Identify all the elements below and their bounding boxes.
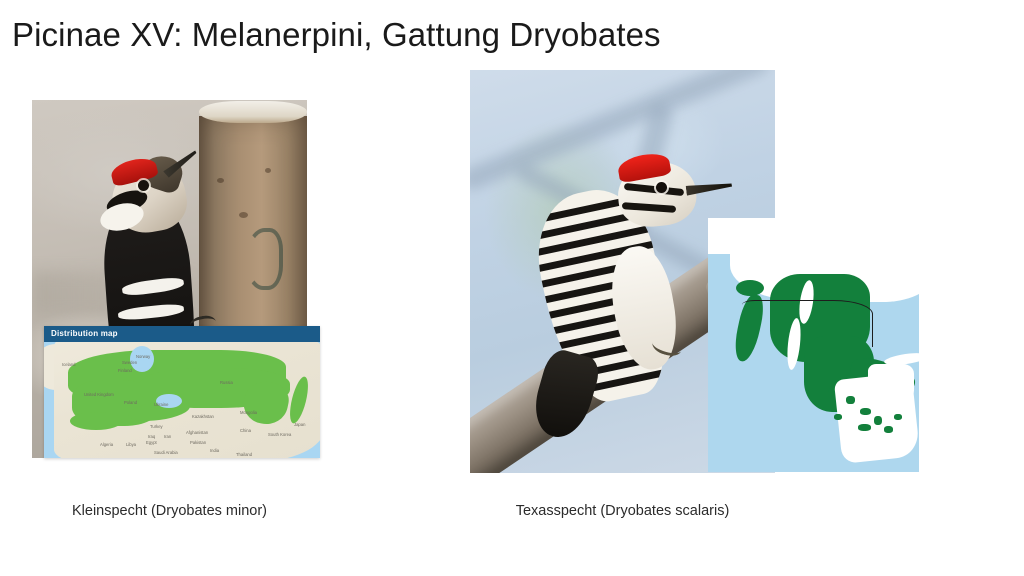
map-country-label: Iceland (62, 362, 76, 367)
map-country-label: Iraq (148, 434, 155, 439)
slide-canvas: Picinae XV: Melanerpini, Gattung Dryobat… (0, 0, 1024, 576)
distribution-map-header: Distribution map (44, 326, 320, 342)
range-patch (834, 414, 842, 420)
map-country-label: Finland (118, 368, 132, 373)
eurasia-distribution-map: Distribution map Iceland Finland Norway … (44, 326, 320, 458)
map-country-label: Egypt (146, 440, 157, 445)
map-country-label: Afghanistan (186, 430, 208, 435)
map-country-label: Thailand (236, 452, 252, 457)
range-patch (874, 416, 882, 425)
map-country-label: Mongolia (240, 410, 257, 415)
range-patch (884, 426, 893, 433)
range-patch (846, 396, 855, 404)
map-country-label: Japan (294, 422, 305, 427)
map-canvas: Iceland Finland Norway Sweden United Kin… (44, 342, 320, 458)
post-speck (265, 168, 271, 173)
map-country-label: India (210, 448, 219, 453)
bird-eye (138, 180, 149, 191)
map-country-label: Libya (126, 442, 136, 447)
bird-eye (656, 182, 667, 193)
caption-right: Texasspecht (Dryobates scalaris) (470, 503, 775, 519)
map-country-label: Saudi Arabia (154, 450, 178, 455)
map-country-label: Sweden (122, 360, 137, 365)
woodpecker-bird (536, 142, 726, 432)
map-country-label: Algeria (100, 442, 113, 447)
mexico-distribution-map (708, 218, 919, 472)
range-area (70, 412, 122, 430)
map-country-label: Turkey (150, 424, 163, 429)
map-country-label: Norway (136, 354, 150, 359)
map-country-label: Kazakhstan (192, 414, 214, 419)
range-patch (894, 414, 902, 420)
map-country-label: South Korea (268, 432, 291, 437)
map-country-label: Russia (220, 380, 233, 385)
map-country-label: Iran (164, 434, 171, 439)
map-country-label: Ukraine (154, 402, 168, 407)
map-country-label: China (240, 428, 251, 433)
range-area (736, 280, 764, 296)
post-moss-mark (245, 228, 283, 290)
landmass-cuba (884, 351, 919, 367)
page-title: Picinae XV: Melanerpini, Gattung Dryobat… (12, 14, 661, 56)
map-country-label: Poland (124, 400, 137, 405)
sea-gap (130, 346, 154, 372)
range-patch (858, 424, 871, 431)
map-country-label: Pakistan (190, 440, 206, 445)
bird-wingtip (527, 346, 603, 444)
landmass-baja-north (708, 218, 768, 254)
caption-left: Kleinspecht (Dryobates minor) (32, 503, 307, 519)
map-country-label: United Kingdom (84, 392, 114, 397)
country-border-line (742, 300, 873, 347)
range-patch (860, 408, 871, 415)
